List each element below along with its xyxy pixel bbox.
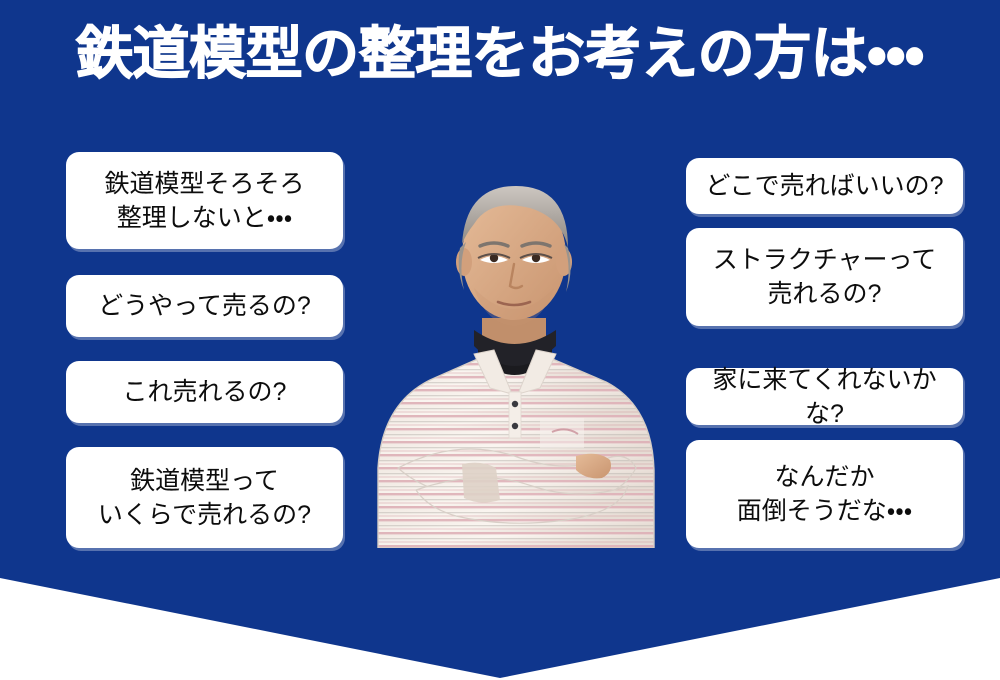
speech-bubble-text: なんだか 面倒そうだな・・・ bbox=[737, 460, 913, 528]
speech-bubble-left-1: 鉄道模型そろそろ 整理しないと・・・ bbox=[66, 152, 343, 249]
speech-bubble-text: 家に来てくれないかな? bbox=[696, 363, 953, 431]
speech-bubble-text: どうやって売るの? bbox=[98, 289, 311, 323]
promo-banner: 鉄道模型の整理をお考えの方は・・・ 鉄道模型そろそろ 整理しないと・・・ どうや… bbox=[0, 0, 1000, 680]
person-photo bbox=[370, 168, 660, 548]
speech-bubble-right-3: 家に来てくれないかな? bbox=[686, 368, 963, 425]
speech-bubble-right-1: どこで売ればいいの? bbox=[686, 158, 963, 214]
speech-bubble-text: どこで売ればいいの? bbox=[705, 169, 943, 203]
speech-bubble-text: 鉄道模型そろそろ 整理しないと・・・ bbox=[104, 167, 304, 235]
speech-bubble-text: これ売れるの? bbox=[123, 375, 287, 409]
speech-bubble-left-4: 鉄道模型って いくらで売れるの? bbox=[66, 447, 343, 548]
speech-bubble-left-3: これ売れるの? bbox=[66, 361, 343, 423]
speech-bubble-right-2: ストラクチャーって 売れるの? bbox=[686, 228, 963, 326]
page-title: 鉄道模型の整理をお考えの方は・・・ bbox=[0, 22, 1000, 86]
speech-bubble-right-4: なんだか 面倒そうだな・・・ bbox=[686, 440, 963, 548]
speech-bubble-text: ストラクチャーって 売れるの? bbox=[713, 243, 937, 311]
speech-bubble-left-2: どうやって売るの? bbox=[66, 275, 343, 337]
speech-bubble-text: 鉄道模型って いくらで売れるの? bbox=[98, 464, 311, 532]
